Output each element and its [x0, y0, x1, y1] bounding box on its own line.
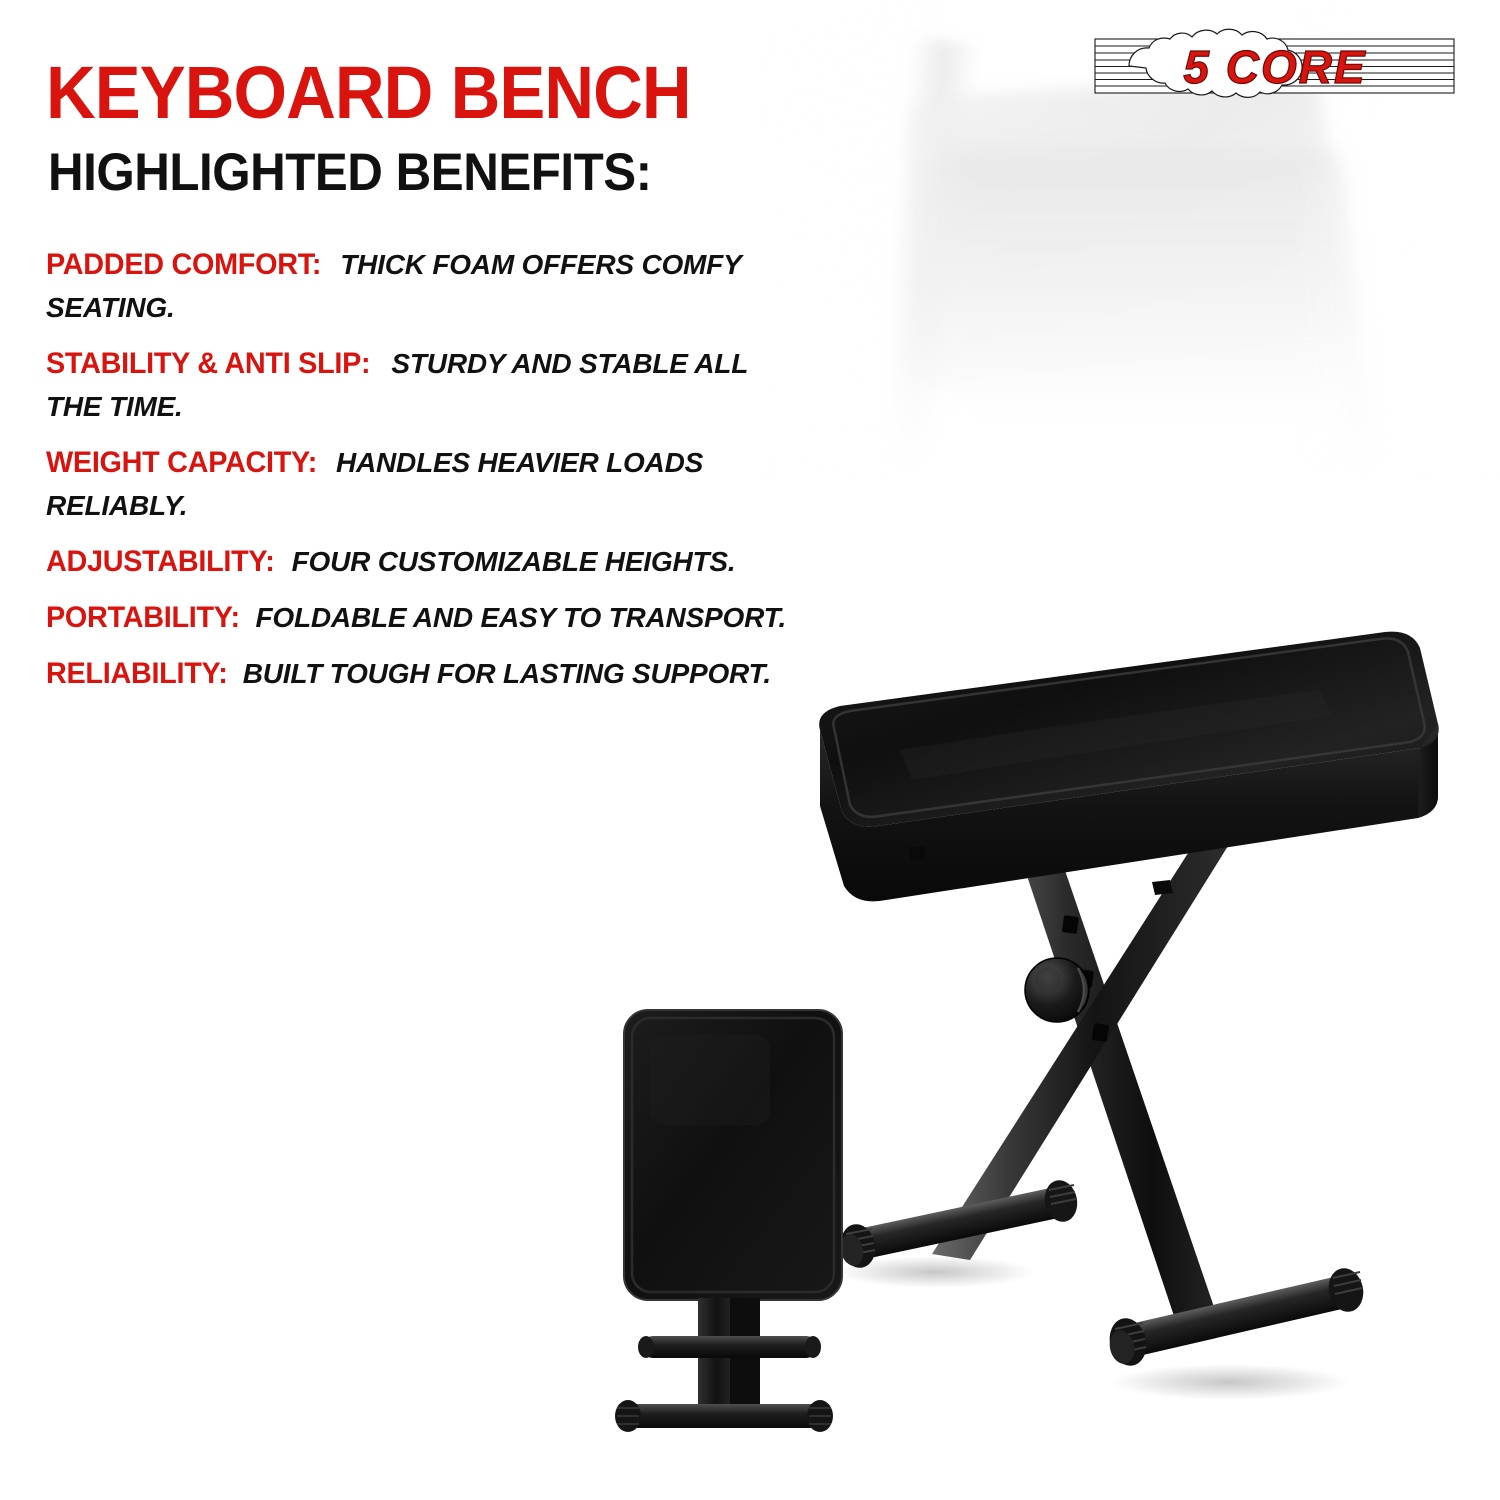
- benefit-item-reliability: RELIABILITY: BUILT TOUGH FOR LASTING SUP…: [46, 652, 791, 695]
- watermark-seat-side: [940, 150, 1340, 400]
- logo-wordmark: 5 CORE: [1183, 41, 1366, 93]
- bench-adjust-hole: [1092, 1023, 1109, 1042]
- keyboard-bench-folded-photo: [580, 980, 920, 1480]
- benefit-text: FOLDABLE AND EASY TO TRANSPORT.: [248, 602, 786, 633]
- svg-text:5 CORE: 5 CORE: [1183, 41, 1366, 93]
- floor-shadow-right: [1110, 1364, 1350, 1400]
- benefit-item-adjustability: ADJUSTABILITY: FOUR CUSTOMIZABLE HEIGHTS…: [46, 540, 791, 583]
- page-title: KEYBOARD BENCH: [46, 56, 691, 130]
- bench-foot-bar-right: [1105, 1265, 1367, 1370]
- five-core-logo: 5 CORE: [1093, 25, 1456, 107]
- foot-cap: [805, 1336, 821, 1358]
- foot-cap: [638, 1336, 654, 1358]
- benefit-label: PORTABILITY:: [46, 596, 240, 639]
- benefit-text: FOUR CUSTOMIZABLE HEIGHTS.: [284, 546, 735, 577]
- benefits-list: PADDED COMFORT: THICK FOAM OFFERS COMFY …: [46, 243, 791, 708]
- benefit-text: BUILT TOUGH FOR LASTING SUPPORT.: [235, 658, 771, 689]
- benefit-item-portability: PORTABILITY: FOLDABLE AND EASY TO TRANSP…: [46, 596, 791, 639]
- benefit-item-weight-capacity: WEIGHT CAPACITY: HANDLES HEAVIER LOADS R…: [46, 441, 791, 527]
- seat-bracket-left: [908, 846, 927, 860]
- benefit-label: RELIABILITY:: [46, 652, 228, 695]
- benefit-item-padded-comfort: PADDED COMFORT: THICK FOAM OFFERS COMFY …: [46, 243, 791, 329]
- bench-seat-cushion: [819, 632, 1438, 902]
- folded-seat-pad: [624, 1010, 842, 1300]
- watermark-leg-left: [870, 38, 980, 502]
- foot-cap-right: [807, 1400, 833, 1432]
- bench-leg-front: [932, 846, 1228, 1260]
- seat-bracket-right: [1152, 880, 1173, 895]
- folded-foot-bar-upper: [638, 1336, 821, 1358]
- bench-adjust-hole: [1062, 915, 1079, 934]
- benefit-label: ADJUSTABILITY:: [46, 540, 274, 583]
- benefit-label: PADDED COMFORT:: [46, 243, 321, 286]
- benefit-item-stability-anti-slip: STABILITY & ANTI SLIP: STURDY AND STABLE…: [46, 342, 791, 428]
- watermark-leg-right: [1300, 178, 1395, 512]
- folded-foot-bar-lower: [615, 1400, 833, 1432]
- watermark-seat: [907, 73, 1362, 387]
- bench-height-adjust-knob: [1025, 958, 1089, 1022]
- benefit-label: STABILITY & ANTI SLIP:: [46, 342, 370, 385]
- benefit-label: WEIGHT CAPACITY:: [46, 441, 317, 484]
- page-subtitle: HIGHLIGHTED BENEFITS:: [48, 146, 652, 199]
- foot-cap-left: [615, 1400, 641, 1432]
